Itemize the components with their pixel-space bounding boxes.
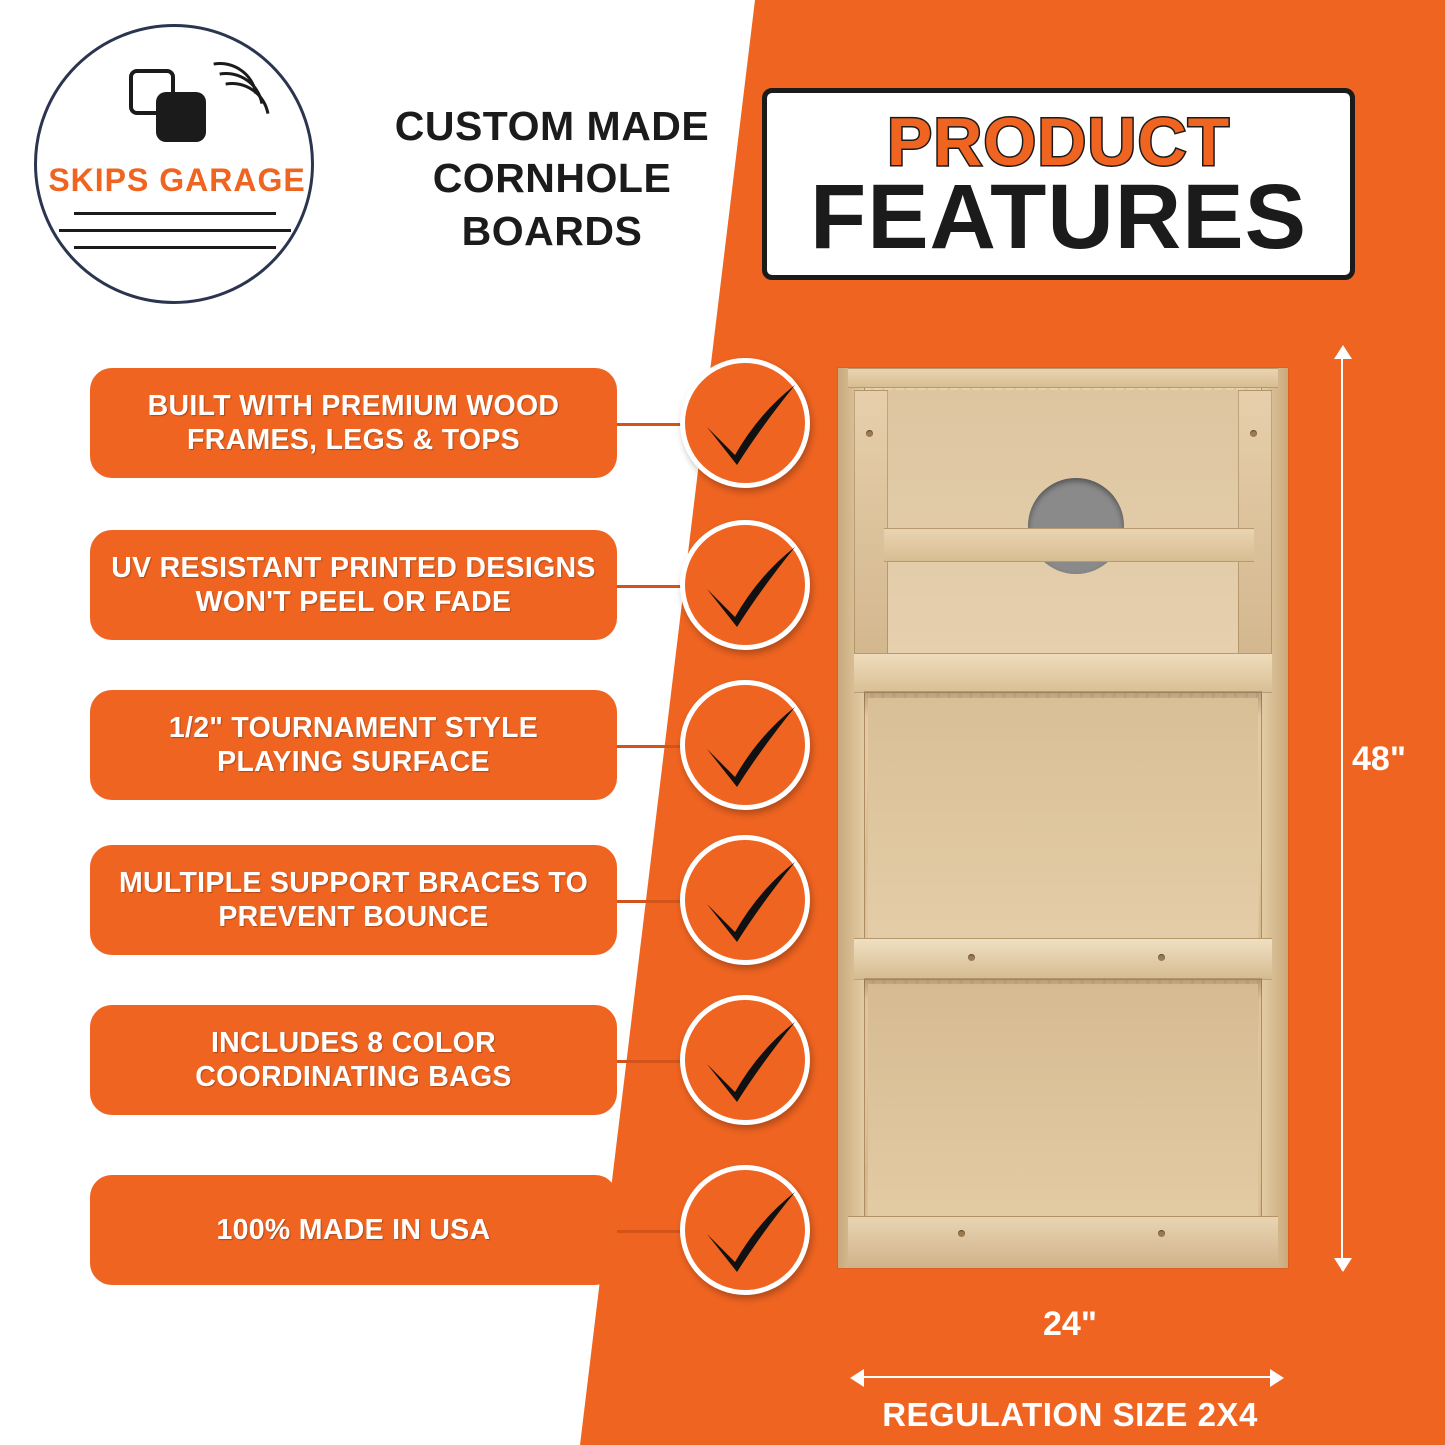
- poster-canvas: SKIPS GARAGE CUSTOM MADE CORNHOLE BOARDS…: [0, 0, 1445, 1445]
- leg-bolt-left: [866, 430, 873, 437]
- feature-row-2: UV RESISTANT PRINTED DESIGNS WON'T PEEL …: [90, 530, 820, 640]
- width-dimension-line: [858, 1376, 1278, 1378]
- feature-label-6: 100% MADE IN USA: [216, 1213, 490, 1247]
- support-brace-upper: [884, 528, 1254, 562]
- feature-row-6: 100% MADE IN USA: [90, 1175, 820, 1285]
- feature-row-5: INCLUDES 8 COLOR COORDINATING BAGS: [90, 1005, 820, 1115]
- feature-pill-3: 1/2" TOURNAMENT STYLE PLAYING SURFACE: [90, 690, 617, 800]
- brace-screw: [968, 954, 975, 961]
- feature-label-4: MULTIPLE SUPPORT BRACES TO PREVENT BOUNC…: [104, 866, 603, 934]
- logo-divider: [74, 246, 276, 249]
- page-title: CUSTOM MADE CORNHOLE BOARDS: [352, 100, 752, 257]
- feature-pill-1: BUILT WITH PREMIUM WOOD FRAMES, LEGS & T…: [90, 368, 617, 478]
- width-dimension-label: 24": [960, 1305, 1180, 1344]
- regulation-size-label: REGULATION SIZE 2X4: [820, 1396, 1320, 1434]
- check-icon: [680, 680, 810, 810]
- badge-line-features: FEATURES: [767, 171, 1350, 263]
- feature-pill-6: 100% MADE IN USA: [90, 1175, 617, 1285]
- height-dimension-label: 48": [1352, 740, 1406, 779]
- support-brace-lower: [854, 938, 1272, 980]
- feature-pill-4: MULTIPLE SUPPORT BRACES TO PREVENT BOUNC…: [90, 845, 617, 955]
- board-frame-bottom: [848, 1216, 1278, 1268]
- height-arrow-up-icon: [1334, 345, 1352, 359]
- brace-screw: [1158, 954, 1165, 961]
- product-photo-cornhole-board: [838, 368, 1288, 1268]
- frame-screw: [1158, 1230, 1165, 1237]
- feature-row-3: 1/2" TOURNAMENT STYLE PLAYING SURFACE: [90, 690, 820, 800]
- feature-row-1: BUILT WITH PREMIUM WOOD FRAMES, LEGS & T…: [90, 368, 820, 478]
- check-icon: [680, 1165, 810, 1295]
- check-icon: [680, 995, 810, 1125]
- feature-label-3: 1/2" TOURNAMENT STYLE PLAYING SURFACE: [104, 711, 603, 779]
- feature-label-2: UV RESISTANT PRINTED DESIGNS WON'T PEEL …: [104, 551, 603, 619]
- support-brace-mid: [854, 653, 1272, 693]
- board-frame-top: [848, 368, 1278, 388]
- height-arrow-down-icon: [1334, 1258, 1352, 1272]
- check-icon: [680, 520, 810, 650]
- feature-pill-5: INCLUDES 8 COLOR COORDINATING BAGS: [90, 1005, 617, 1115]
- feature-label-5: INCLUDES 8 COLOR COORDINATING BAGS: [104, 1026, 603, 1094]
- leg-bolt-right: [1250, 430, 1257, 437]
- width-arrow-right-icon: [1270, 1369, 1284, 1387]
- check-icon: [680, 835, 810, 965]
- board-bottom-bay: [868, 984, 1258, 1224]
- board-lower-bay: [868, 698, 1258, 948]
- logo-divider: [74, 212, 276, 215]
- product-features-badge: PRODUCT FEATURES: [762, 88, 1355, 280]
- feature-label-1: BUILT WITH PREMIUM WOOD FRAMES, LEGS & T…: [104, 389, 603, 457]
- frame-screw: [958, 1230, 965, 1237]
- logo-divider: [59, 229, 291, 232]
- width-arrow-left-icon: [850, 1369, 864, 1387]
- height-dimension-line: [1341, 350, 1343, 1270]
- check-icon: [680, 358, 810, 488]
- feature-row-4: MULTIPLE SUPPORT BRACES TO PREVENT BOUNC…: [90, 845, 820, 955]
- logo-wordmark: SKIPS GARAGE: [12, 162, 342, 199]
- feature-pill-2: UV RESISTANT PRINTED DESIGNS WON'T PEEL …: [90, 530, 617, 640]
- brand-logo: SKIPS GARAGE: [12, 14, 342, 314]
